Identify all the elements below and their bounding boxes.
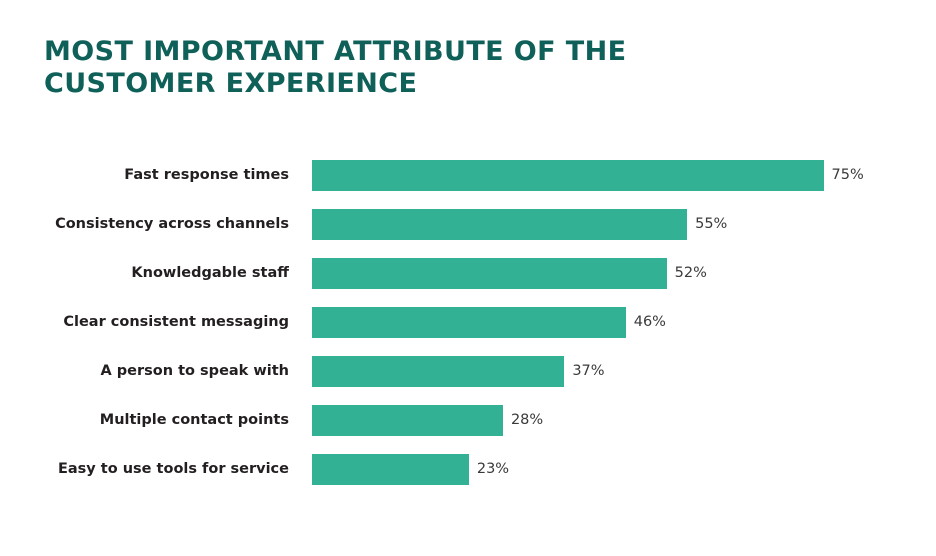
bar-value-label: 75%: [824, 160, 864, 191]
bar-category-label: Easy to use tools for service: [0, 454, 289, 485]
bar-fill: [312, 160, 824, 191]
bar-track: 55%: [312, 209, 936, 240]
bar-track: 46%: [312, 307, 936, 338]
bar-track: 52%: [312, 258, 936, 289]
table-row: Consistency across channels 55%: [0, 209, 936, 240]
bar-category-label: Knowledgable staff: [0, 258, 289, 289]
bar-value-label: 55%: [687, 209, 727, 240]
bar-value-label: 52%: [667, 258, 707, 289]
bar-fill: [312, 258, 667, 289]
bar-track: 28%: [312, 405, 936, 436]
bar-value-label: 37%: [564, 356, 604, 387]
bar-category-label: A person to speak with: [0, 356, 289, 387]
bar-category-label: Fast response times: [0, 160, 289, 191]
table-row: Fast response times 75%: [0, 160, 936, 191]
chart-title-block: MOST IMPORTANT ATTRIBUTE OF THE CUSTOMER…: [44, 36, 664, 100]
bar-track: 37%: [312, 356, 936, 387]
table-row: A person to speak with 37%: [0, 356, 936, 387]
page-title: MOST IMPORTANT ATTRIBUTE OF THE CUSTOMER…: [44, 36, 664, 100]
bar-track: 75%: [312, 160, 936, 191]
chart-container: MOST IMPORTANT ATTRIBUTE OF THE CUSTOMER…: [0, 0, 936, 556]
table-row: Knowledgable staff 52%: [0, 258, 936, 289]
table-row: Easy to use tools for service 23%: [0, 454, 936, 485]
bar-fill: [312, 454, 469, 485]
bar-value-label: 23%: [469, 454, 509, 485]
bar-fill: [312, 405, 503, 436]
bar-category-label: Multiple contact points: [0, 405, 289, 436]
bar-track: 23%: [312, 454, 936, 485]
table-row: Clear consistent messaging 46%: [0, 307, 936, 338]
table-row: Multiple contact points 28%: [0, 405, 936, 436]
bar-fill: [312, 356, 564, 387]
bar-value-label: 46%: [626, 307, 666, 338]
bar-fill: [312, 209, 687, 240]
bar-value-label: 28%: [503, 405, 543, 436]
bar-category-label: Consistency across channels: [0, 209, 289, 240]
bar-category-label: Clear consistent messaging: [0, 307, 289, 338]
bar-fill: [312, 307, 626, 338]
bar-chart-plot-area: Fast response times 75% Consistency acro…: [0, 160, 936, 510]
